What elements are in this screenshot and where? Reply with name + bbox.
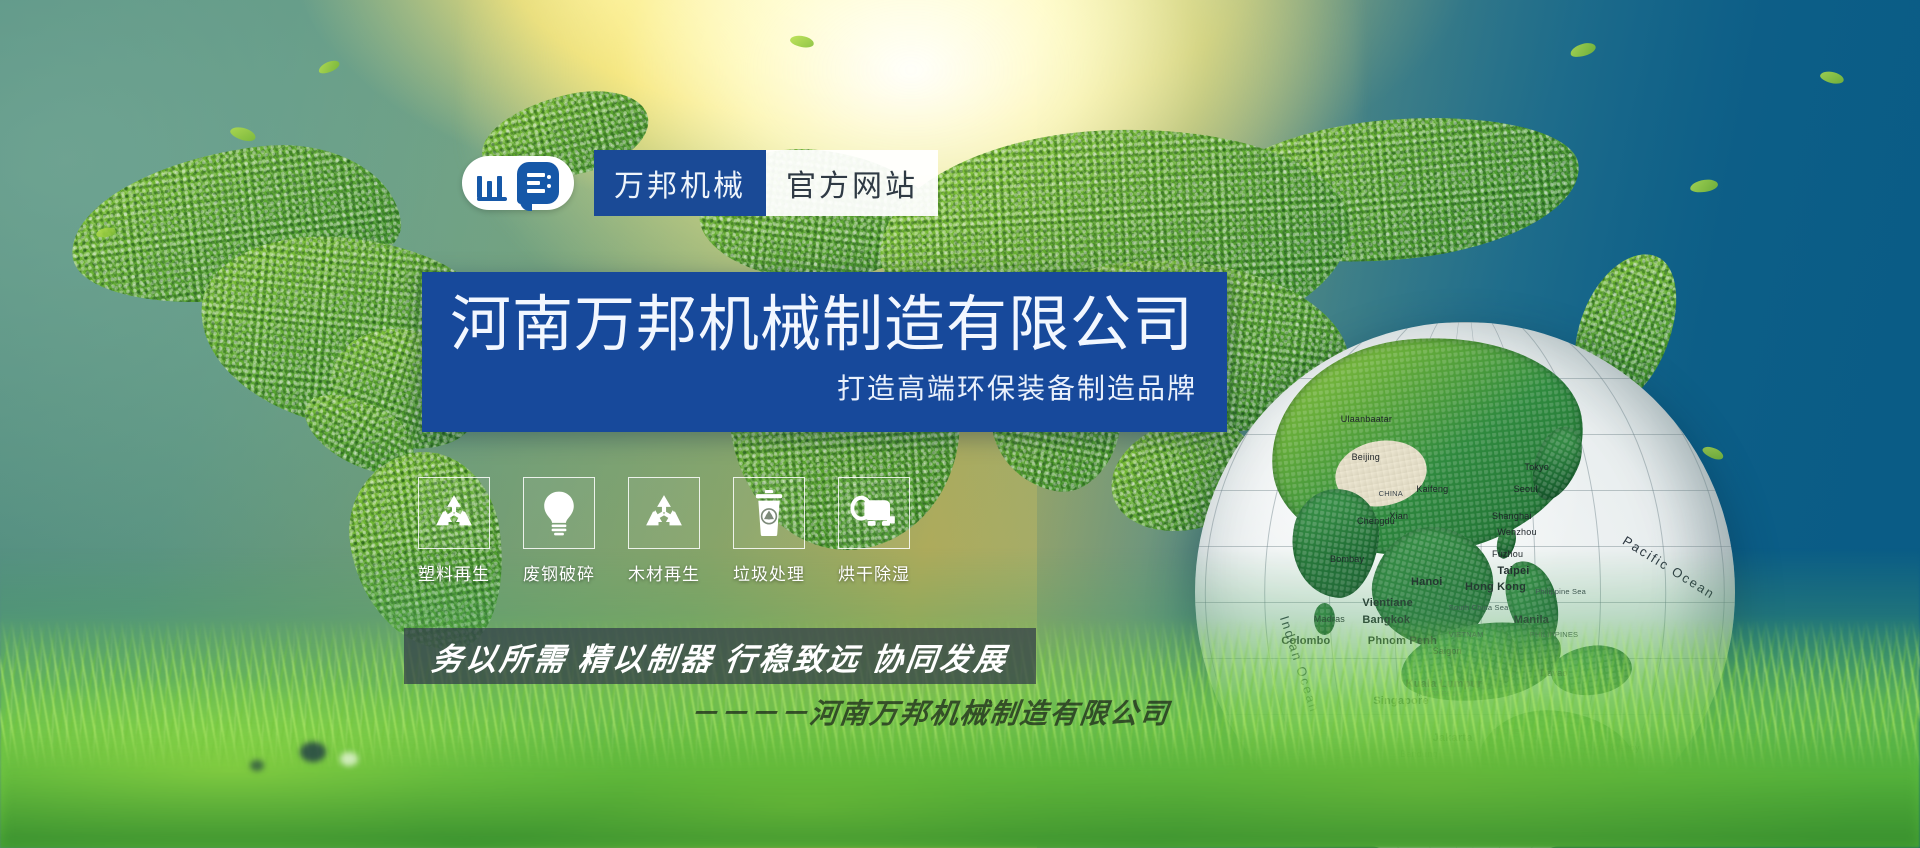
grass-shadow — [0, 728, 1920, 848]
feature-icon-box — [523, 477, 595, 549]
globe-city-label: Chengdu — [1357, 516, 1395, 526]
globe-city-label: Ulaanbaatar — [1341, 414, 1392, 424]
official-site-box[interactable]: 官方网站 — [766, 150, 938, 216]
bokeh-speck — [300, 742, 326, 762]
dryer-machine-icon — [850, 494, 898, 532]
feature-label: 塑料再生 — [418, 560, 490, 585]
slogan-text: 务以所需 精以制器 行稳致远 协同发展 — [429, 634, 1011, 679]
globe-city-label: Beijing — [1352, 452, 1380, 462]
bokeh-speck — [250, 760, 264, 771]
wb-monogram-icon[interactable] — [462, 156, 574, 210]
floating-leaf — [229, 124, 257, 143]
feature-label: 木材再生 — [628, 560, 700, 585]
logo-b-bubble-icon — [517, 162, 559, 204]
floating-leaf — [1819, 69, 1845, 85]
company-title-panel: 河南万邦机械制造有限公司 打造高端环保装备制造品牌 — [422, 272, 1227, 432]
page-title: 河南万邦机械制造有限公司 — [450, 293, 1197, 355]
floating-leaf — [1569, 41, 1597, 60]
feature-item-drying-dehumidifying[interactable]: 烘干除湿 — [838, 477, 910, 585]
floating-leaf — [1689, 178, 1718, 194]
globe-city-label: Shanghai — [1492, 511, 1532, 521]
slogan-attribution: －－－－河南万邦机械制造有限公司 — [688, 692, 1173, 732]
slogan-bar: 务以所需 精以制器 行稳致远 协同发展 — [404, 628, 1036, 684]
feature-item-plastic-recycling[interactable]: 塑料再生 — [418, 477, 490, 585]
feature-icon-box — [418, 477, 490, 549]
feature-icon-box — [733, 477, 805, 549]
hero-banner: Ulaanbaatar Beijing CHINA Kaifeng Xian C… — [0, 0, 1920, 848]
recycle-icon — [642, 491, 686, 535]
trash-bin-icon — [752, 490, 786, 536]
globe-city-label: Tokyo — [1524, 462, 1549, 472]
globe-city-label: Wenzhou — [1497, 527, 1536, 537]
feature-icon-box — [628, 477, 700, 549]
recycle-icon — [432, 491, 476, 535]
globe-city-label: Seoul — [1514, 484, 1538, 494]
page-subtitle: 打造高端环保装备制造品牌 — [450, 367, 1197, 407]
feature-icon-box — [838, 477, 910, 549]
brand-bar: 万邦机械 官方网站 — [462, 150, 938, 216]
brand-name-box[interactable]: 万邦机械 — [594, 150, 766, 216]
globe-country-label: CHINA — [1379, 489, 1403, 498]
feature-label: 废钢破碎 — [523, 560, 595, 585]
bokeh-speck — [340, 752, 358, 766]
lightbulb-icon — [538, 490, 580, 536]
feature-label: 烘干除湿 — [838, 560, 910, 585]
globe-city-label: Kaifeng — [1416, 484, 1448, 494]
feature-item-waste-treatment[interactable]: 垃圾处理 — [733, 477, 805, 585]
feature-icon-row: 塑料再生 废钢破碎 — [418, 477, 910, 585]
floating-leaf — [789, 34, 815, 50]
feature-label: 垃圾处理 — [733, 560, 805, 585]
feature-item-wood-recycling[interactable]: 木材再生 — [628, 477, 700, 585]
feature-item-scrap-steel-crushing[interactable]: 废钢破碎 — [523, 477, 595, 585]
floating-leaf — [317, 58, 341, 76]
logo-w-glyph — [477, 168, 509, 198]
